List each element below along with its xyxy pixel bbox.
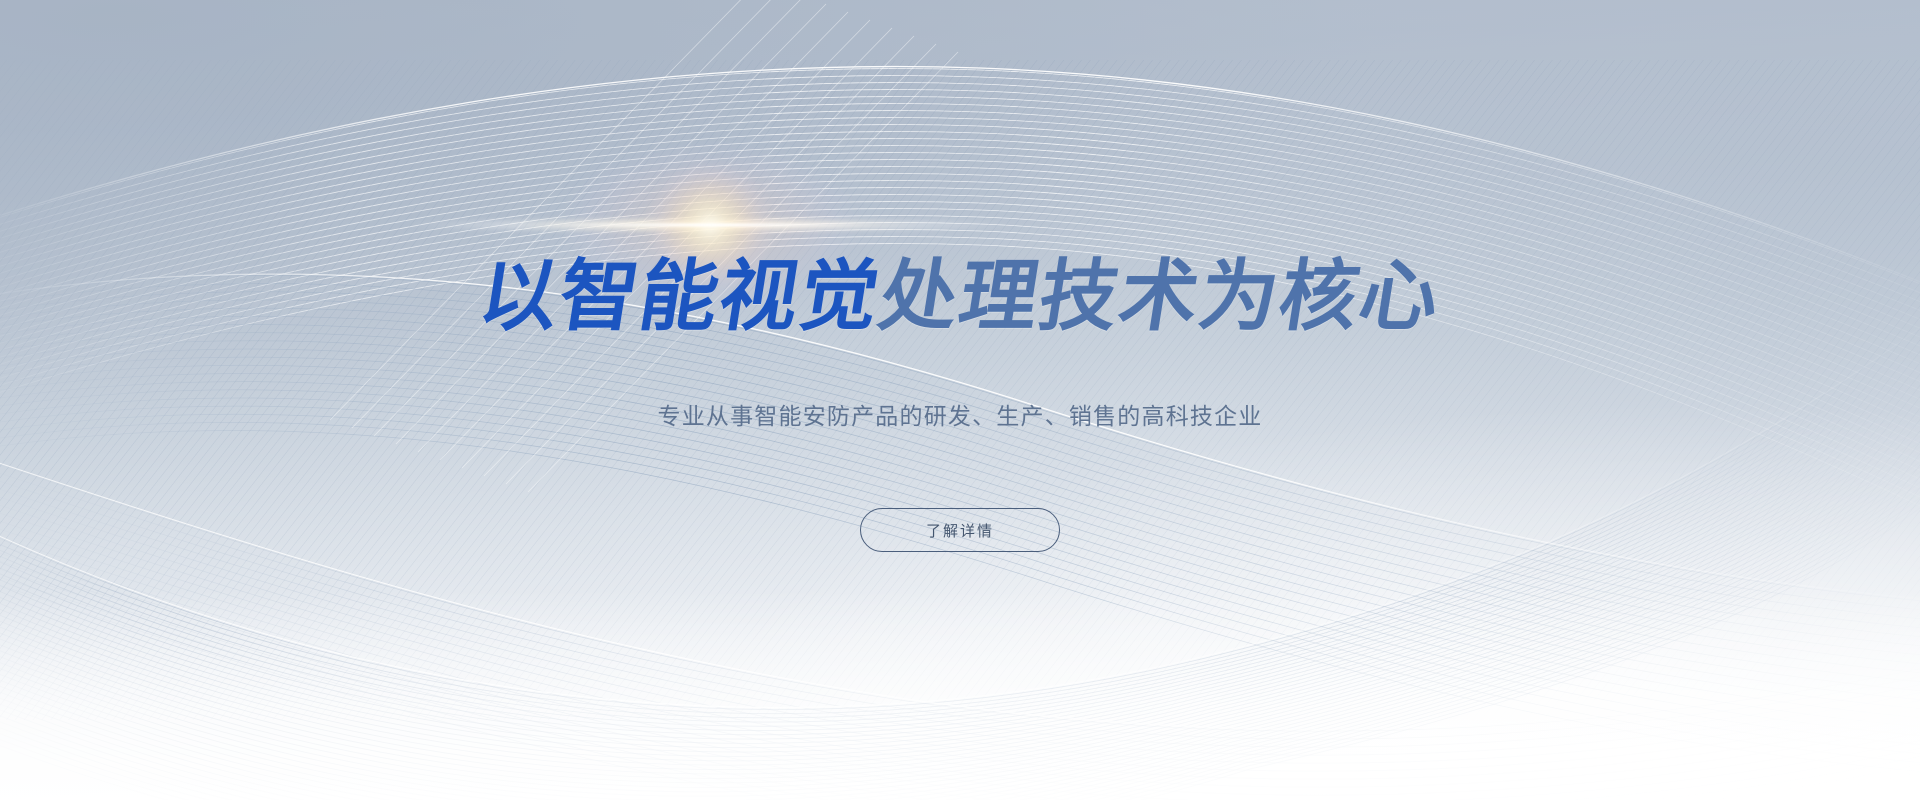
page-title: 以智能视觉处理技术为核心: [0, 258, 1920, 336]
headline-muted-segment: 处理技术为核心: [873, 252, 1447, 342]
cta-container: 了解详情: [0, 508, 1920, 552]
hero-subtitle: 专业从事智能安防产品的研发、生产、销售的高科技企业: [0, 402, 1920, 432]
hero-content: 以智能视觉处理技术为核心 专业从事智能安防产品的研发、生产、销售的高科技企业 了…: [0, 0, 1920, 800]
learn-more-button[interactable]: 了解详情: [860, 508, 1060, 552]
hero-banner: 以智能视觉处理技术为核心 专业从事智能安防产品的研发、生产、销售的高科技企业 了…: [0, 0, 1920, 800]
headline-accent-segment: 以智能视觉: [473, 252, 887, 342]
